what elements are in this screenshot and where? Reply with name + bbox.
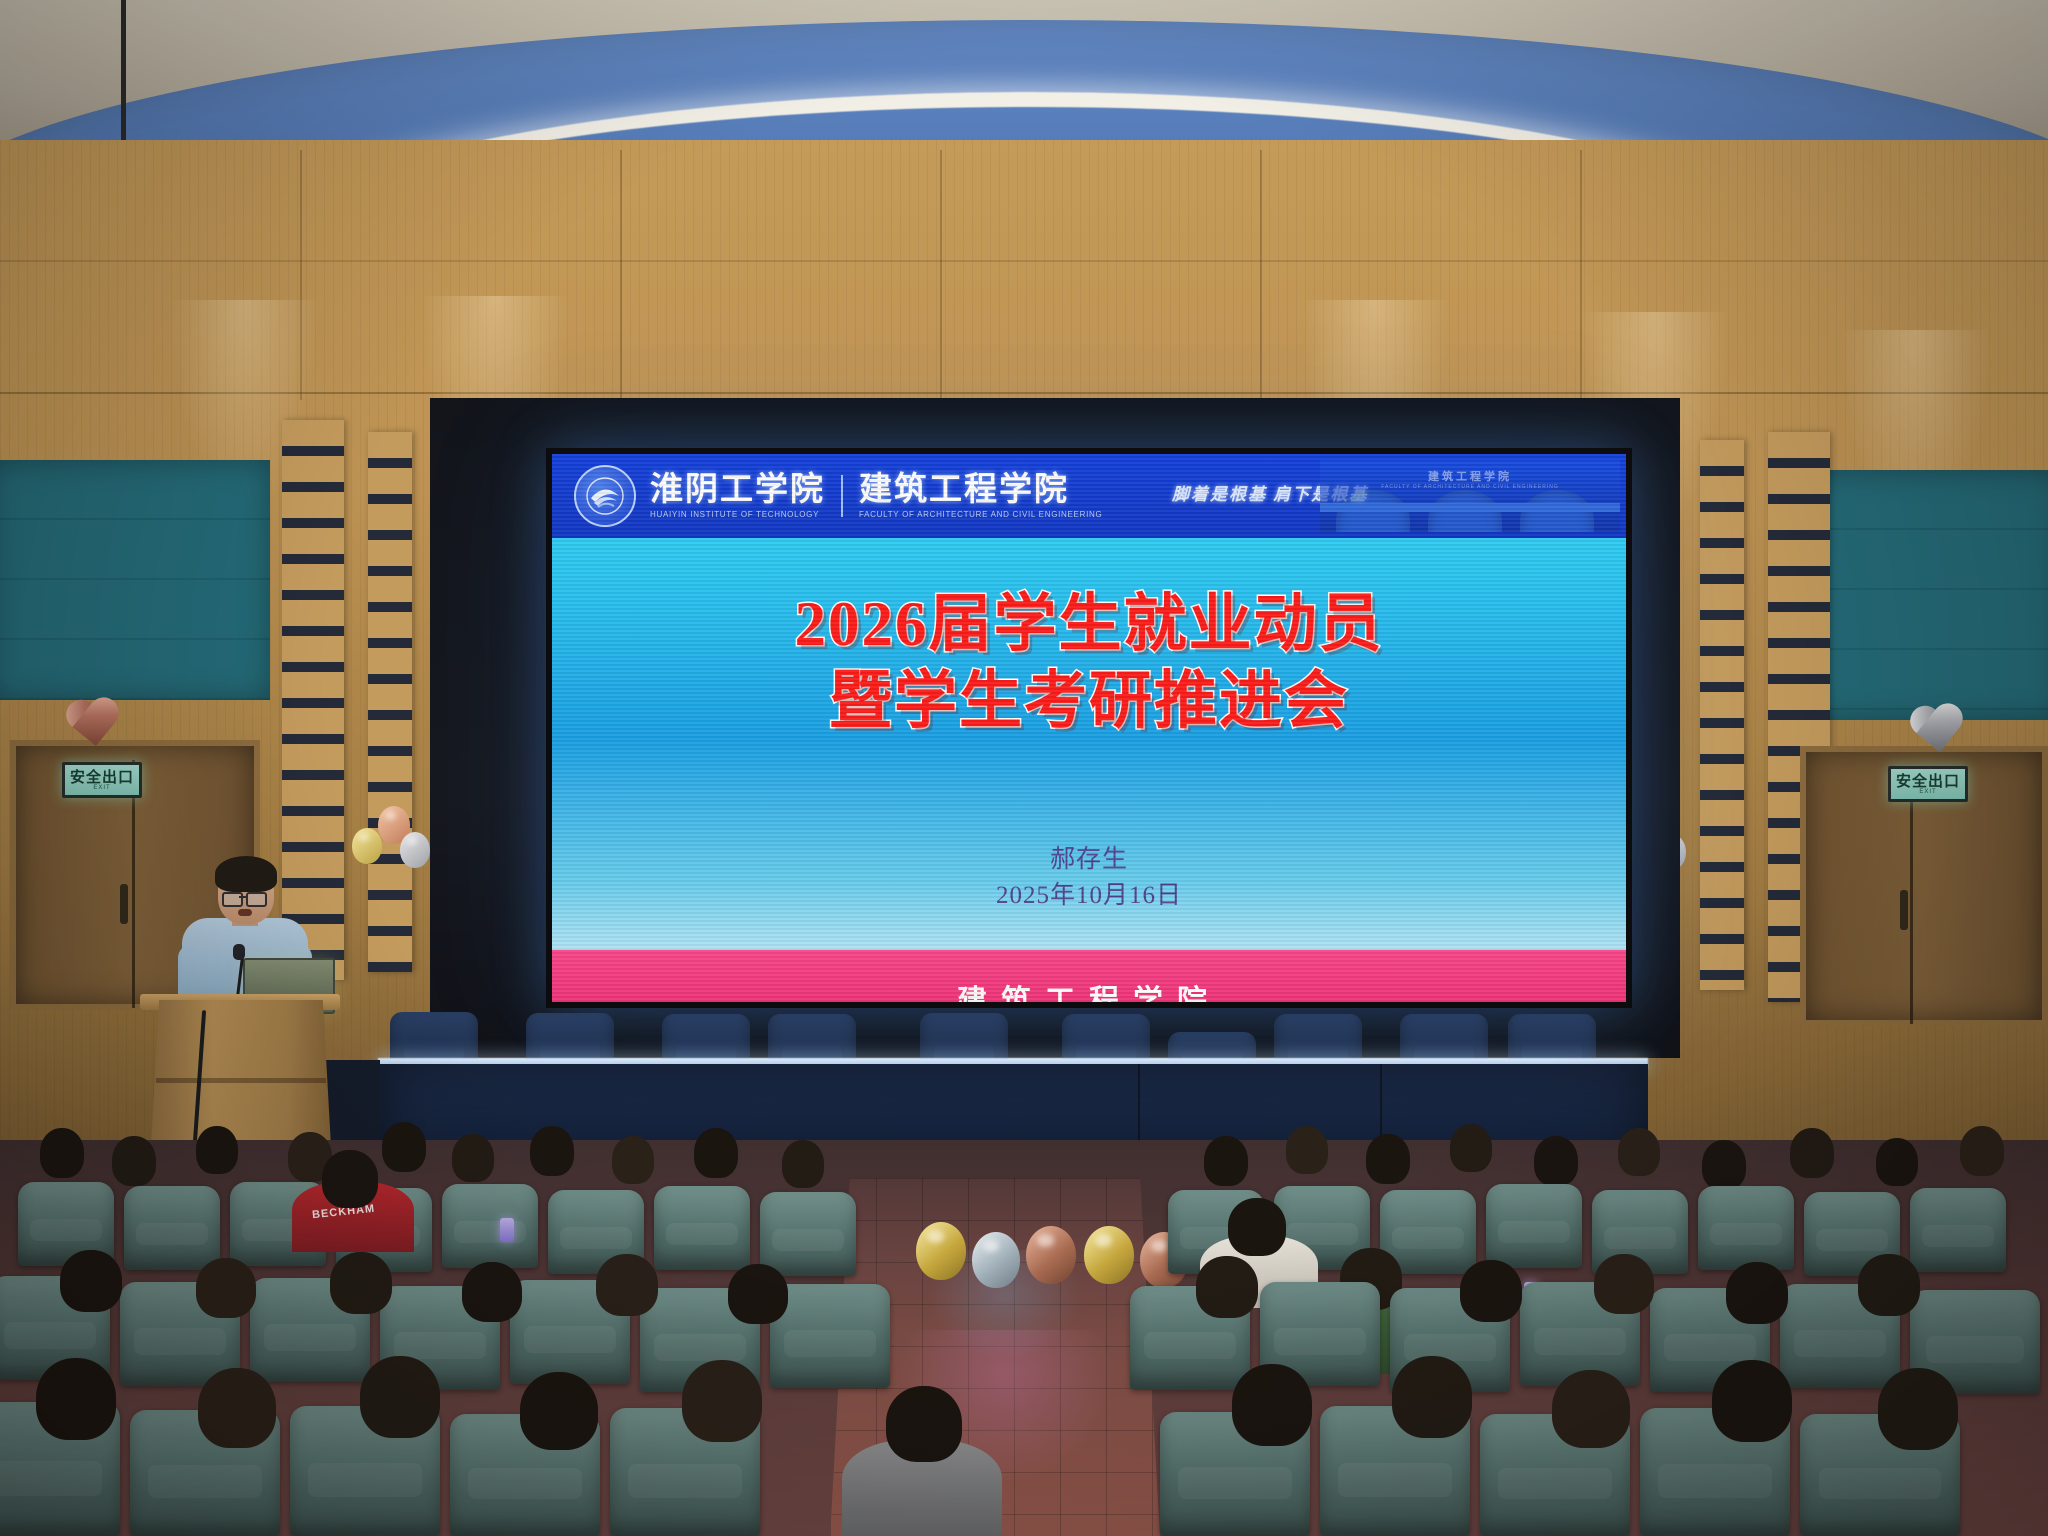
- auditorium-seat: [124, 1186, 220, 1270]
- exit-sign-left: 安全出口 EXIT: [62, 762, 142, 798]
- presentation-slide: 淮阴工学院 HUAIYIN INSTITUTE OF TECHNOLOGY 建筑…: [552, 454, 1626, 1002]
- audience-head: [1878, 1368, 1958, 1450]
- auditorium-seat: [760, 1192, 856, 1276]
- audience-head: [1534, 1136, 1578, 1186]
- speaker-hair: [215, 856, 277, 892]
- photo-caption-en: FACULTY OF ARCHITECTURE AND CIVIL ENGINE…: [1381, 484, 1558, 490]
- audience-head: [196, 1126, 238, 1174]
- audience-head: [1552, 1370, 1630, 1448]
- aisle-balloon-gold: [1084, 1226, 1134, 1284]
- aisle-balloon-gold: [916, 1222, 966, 1280]
- faculty-name-block: 建筑工程学院 FACULTY OF ARCHITECTURE AND CIVIL…: [859, 473, 1102, 520]
- audience-head: [694, 1128, 738, 1178]
- audience-head: [36, 1358, 116, 1440]
- slide-subtitle: 郝存生 2025年10月16日: [552, 842, 1626, 915]
- university-name-cn: 淮阴工学院: [650, 473, 825, 508]
- aisle-balloon-rose: [1026, 1226, 1076, 1284]
- audience-head: [1712, 1360, 1792, 1442]
- wall-balloon: [400, 832, 430, 868]
- audience-head: [1702, 1140, 1746, 1190]
- audience-head: [520, 1372, 598, 1450]
- audience-head: [382, 1122, 426, 1172]
- audience-head: [530, 1126, 574, 1176]
- header-campus-photo: 建筑工程学院 FACULTY OF ARCHITECTURE AND CIVIL…: [1320, 460, 1620, 532]
- university-emblem-icon: [574, 465, 636, 527]
- slide-footer-bar: 建筑工程学院: [552, 950, 1626, 1002]
- speaker-glasses-bridge: [239, 896, 246, 898]
- slide-date: 2025年10月16日: [552, 878, 1626, 914]
- faculty-name-en: FACULTY OF ARCHITECTURE AND CIVIL ENGINE…: [859, 510, 1102, 519]
- audience-head: [1960, 1126, 2004, 1176]
- acoustic-panel-left: [0, 460, 270, 700]
- audience-phone: [500, 1218, 514, 1242]
- audience-head: [682, 1360, 762, 1442]
- audience-head: [1460, 1260, 1522, 1322]
- audience-head: [462, 1262, 522, 1322]
- auditorium-seat: [1698, 1186, 1794, 1270]
- heart-balloon-left: [61, 697, 127, 759]
- audience-head: [360, 1356, 440, 1438]
- audience-head: [1594, 1254, 1654, 1314]
- audience-head: [452, 1134, 494, 1182]
- university-name-en: HUAIYIN INSTITUTE OF TECHNOLOGY: [650, 510, 825, 519]
- wall-seam: [1260, 150, 1262, 400]
- audience-head: [196, 1258, 256, 1318]
- photo-caption-cn: 建筑工程学院: [1428, 468, 1512, 484]
- auditorium-photo: 安全出口 EXIT 安全出口 EXIT: [0, 0, 2048, 1536]
- audience-head: [1196, 1256, 1258, 1318]
- audience-head: [1726, 1262, 1788, 1324]
- door-center-split: [1910, 766, 1913, 1024]
- led-screen: 淮阴工学院 HUAIYIN INSTITUTE OF TECHNOLOGY 建筑…: [546, 448, 1632, 1008]
- audience-head: [112, 1136, 156, 1186]
- audience-head: [1876, 1138, 1918, 1186]
- auditorium-seat: [442, 1184, 538, 1268]
- audience-head: [1286, 1126, 1328, 1174]
- faculty-name-cn: 建筑工程学院: [859, 473, 1102, 508]
- wall-seam: [940, 150, 942, 400]
- speaker-glasses-right-lens: [246, 892, 267, 907]
- audience-head: [886, 1386, 962, 1462]
- audience-head: [1232, 1364, 1312, 1446]
- slide-header-bar: 淮阴工学院 HUAIYIN INSTITUTE OF TECHNOLOGY 建筑…: [552, 454, 1626, 538]
- audience-head: [1204, 1136, 1248, 1186]
- ribbed-column-left-outer: [282, 420, 344, 980]
- auditorium-seat: [770, 1284, 890, 1388]
- slide-header-names: 淮阴工学院 HUAIYIN INSTITUTE OF TECHNOLOGY 建筑…: [650, 473, 1102, 520]
- auditorium-seat: [1486, 1184, 1582, 1268]
- university-name-block: 淮阴工学院 HUAIYIN INSTITUTE OF TECHNOLOGY: [650, 473, 825, 520]
- exit-sign-right: 安全出口 EXIT: [1888, 766, 1968, 802]
- wall-seam: [620, 150, 622, 400]
- audience-head: [40, 1128, 84, 1178]
- exit-sign-label-cn: 安全出口: [1896, 774, 1960, 789]
- exit-sign-label-en: EXIT: [1919, 789, 1936, 795]
- speaker-glasses-left-lens: [222, 892, 243, 907]
- audience-head: [596, 1254, 658, 1316]
- audience-head: [1228, 1198, 1286, 1256]
- auditorium-seat: [1910, 1188, 2006, 1272]
- ribbed-column-left-inner: [368, 432, 412, 972]
- audience-head: [612, 1136, 654, 1184]
- slide-title-line2: 暨学生考研推进会: [552, 663, 1626, 740]
- audience-head: [1392, 1356, 1472, 1438]
- slide-title-line1: 2026届学生就业动员: [552, 586, 1626, 663]
- audience-head: [1450, 1124, 1492, 1172]
- header-divider: [841, 475, 843, 517]
- wall-seam: [0, 260, 2048, 262]
- audience-head: [1618, 1128, 1660, 1176]
- audience-head: [1366, 1134, 1410, 1184]
- audience-head: [60, 1250, 122, 1312]
- podium-trim: [156, 1078, 326, 1083]
- slide-presenter: 郝存生: [552, 842, 1626, 878]
- audience-head: [322, 1150, 378, 1208]
- audience-head: [782, 1140, 824, 1188]
- audience-head: [198, 1368, 276, 1448]
- slide-footer-text: 建筑工程学院: [552, 976, 1626, 1002]
- door-handle-right[interactable]: [1900, 890, 1908, 930]
- exit-sign-label-en: EXIT: [93, 785, 110, 791]
- aisle-balloon-silver: [972, 1232, 1020, 1288]
- exit-sign-label-cn: 安全出口: [70, 770, 134, 785]
- audience-head: [1790, 1128, 1834, 1178]
- speaker-mouth: [238, 909, 252, 916]
- door-handle-left[interactable]: [120, 884, 128, 924]
- heart-balloon-right: [1905, 703, 1971, 765]
- microphone-head: [233, 944, 245, 960]
- audience-head: [728, 1264, 788, 1324]
- photo-deck: [1320, 503, 1620, 512]
- audience-head: [1858, 1254, 1920, 1316]
- ribbed-column-right-inner: [1700, 440, 1744, 990]
- slide-title: 2026届学生就业动员 暨学生考研推进会: [552, 586, 1626, 740]
- wall-balloon: [352, 828, 382, 864]
- auditorium-seat: [654, 1186, 750, 1270]
- audience-head: [330, 1252, 392, 1314]
